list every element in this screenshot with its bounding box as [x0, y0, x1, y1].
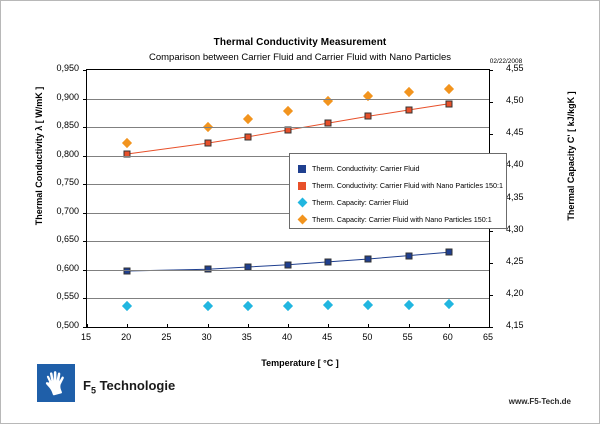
- gridline: [87, 270, 489, 271]
- x-tick: [409, 324, 410, 328]
- y-tick-label-left: 0,550: [39, 291, 79, 301]
- y-axis-title-right: Thermal Capacity C' [ kJ/kgK ]: [566, 56, 576, 256]
- x-tick: [248, 324, 249, 328]
- chart-page: Thermal Conductivity Measurement Compari…: [0, 0, 600, 424]
- y-tick-label-left: 0,950: [39, 63, 79, 73]
- y-tick-label-right: 4,15: [506, 320, 546, 330]
- y-tick-right: [489, 70, 493, 71]
- gridline: [87, 241, 489, 242]
- x-tick-label: 40: [272, 332, 302, 342]
- x-tick: [208, 324, 209, 328]
- y-tick-label-left: 0,900: [39, 92, 79, 102]
- y-tick-left: [83, 241, 87, 242]
- data-point-conductivity_nano: [445, 100, 452, 107]
- x-tick-label: 50: [352, 332, 382, 342]
- x-tick-label: 30: [192, 332, 222, 342]
- legend-item-capacity_carrier: Therm. Capacity: Carrier Fluid: [298, 194, 506, 211]
- y-tick-label-left: 0,700: [39, 206, 79, 216]
- x-tick: [87, 324, 88, 328]
- data-point-conductivity_carrier: [124, 268, 131, 275]
- y-tick-left: [83, 298, 87, 299]
- x-axis-title: Temperature [ °C ]: [1, 358, 599, 368]
- data-point-conductivity_nano: [405, 106, 412, 113]
- hand-icon: [43, 370, 69, 396]
- y-tick-label-right: 4,25: [506, 256, 546, 266]
- gridline: [87, 127, 489, 128]
- y-tick-label-right: 4,55: [506, 63, 546, 73]
- legend-item-capacity_nano: Therm. Capacity: Carrier Fluid with Nano…: [298, 211, 506, 228]
- page-title: Thermal Conductivity Measurement: [1, 37, 599, 48]
- square-marker-icon: [298, 182, 306, 190]
- y-tick-left: [83, 127, 87, 128]
- f5-logo: [37, 364, 75, 402]
- y-tick-left: [83, 184, 87, 185]
- legend-item-conductivity_carrier: Therm. Conductivity: Carrier Fluid: [298, 160, 506, 177]
- x-tick-label: 25: [151, 332, 181, 342]
- y-tick-left: [83, 270, 87, 271]
- data-point-conductivity_carrier: [325, 258, 332, 265]
- y-tick-right: [489, 295, 493, 296]
- y-tick-left: [83, 156, 87, 157]
- y-tick-label-right: 4,20: [506, 288, 546, 298]
- y-tick-right: [489, 263, 493, 264]
- y-tick-label-right: 4,35: [506, 192, 546, 202]
- gridline: [87, 298, 489, 299]
- legend-label: Therm. Capacity: Carrier Fluid: [312, 198, 408, 207]
- data-point-conductivity_nano: [325, 120, 332, 127]
- legend-label: Therm. Conductivity: Carrier Fluid with …: [312, 181, 503, 190]
- x-tick-label: 60: [433, 332, 463, 342]
- gridline: [87, 99, 489, 100]
- data-point-conductivity_carrier: [285, 261, 292, 268]
- x-tick-label: 15: [71, 332, 101, 342]
- y-tick-label-right: 4,45: [506, 127, 546, 137]
- y-tick-label-left: 0,750: [39, 177, 79, 187]
- x-tick: [368, 324, 369, 328]
- y-tick-left: [83, 213, 87, 214]
- y-tick-label-left: 0,600: [39, 263, 79, 273]
- y-tick-label-right: 4,50: [506, 95, 546, 105]
- data-point-conductivity_nano: [204, 140, 211, 147]
- diamond-marker-icon: [298, 198, 308, 208]
- y-tick-right: [489, 231, 493, 232]
- x-tick: [449, 324, 450, 328]
- x-tick: [489, 324, 490, 328]
- y-tick-label-left: 0,800: [39, 149, 79, 159]
- x-tick: [288, 324, 289, 328]
- y-tick-right: [489, 102, 493, 103]
- y-tick-label-left: 0,650: [39, 234, 79, 244]
- x-tick-label: 20: [111, 332, 141, 342]
- diamond-marker-icon: [298, 215, 308, 225]
- y-tick-left: [83, 70, 87, 71]
- x-tick: [167, 324, 168, 328]
- data-point-conductivity_carrier: [405, 252, 412, 259]
- legend-item-conductivity_nano: Therm. Conductivity: Carrier Fluid with …: [298, 177, 506, 194]
- y-tick-label-left: 0,850: [39, 120, 79, 130]
- data-point-conductivity_carrier: [445, 249, 452, 256]
- y-tick-label-right: 4,40: [506, 159, 546, 169]
- logo-wordmark: F5 Technologie: [83, 378, 175, 396]
- x-tick-label: 35: [232, 332, 262, 342]
- y-tick-label-right: 4,30: [506, 224, 546, 234]
- legend-label: Therm. Capacity: Carrier Fluid with Nano…: [312, 215, 492, 224]
- chart-legend: Therm. Conductivity: Carrier FluidTherm.…: [289, 153, 507, 229]
- legend-label: Therm. Conductivity: Carrier Fluid: [312, 164, 419, 173]
- square-marker-icon: [298, 165, 306, 173]
- site-url: www.F5-Tech.de: [431, 397, 571, 406]
- y-tick-left: [83, 99, 87, 100]
- x-tick-label: 65: [473, 332, 503, 342]
- x-tick: [328, 324, 329, 328]
- data-point-conductivity_nano: [244, 133, 251, 140]
- x-tick: [127, 324, 128, 328]
- data-point-conductivity_nano: [365, 113, 372, 120]
- y-tick-right: [489, 134, 493, 135]
- x-tick-label: 55: [393, 332, 423, 342]
- data-point-conductivity_carrier: [365, 256, 372, 263]
- x-tick-label: 45: [312, 332, 342, 342]
- y-tick-label-left: 0,500: [39, 320, 79, 330]
